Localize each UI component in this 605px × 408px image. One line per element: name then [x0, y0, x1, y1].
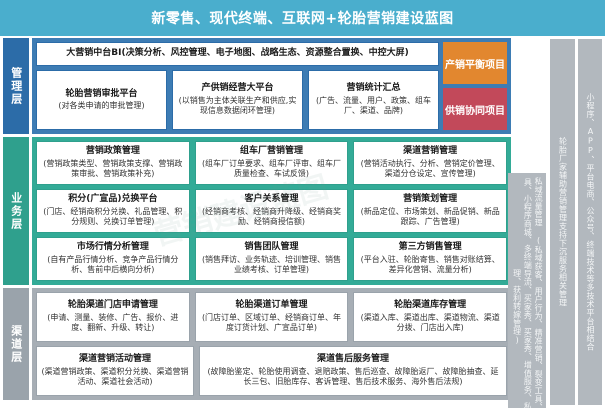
- card-title: 渠道营销活动管理: [79, 354, 151, 365]
- card-marketing-statistics-summary[interactable]: 营销统计汇总 (广告、流量、用户、政策、组车厂、渠道、品牌): [308, 70, 439, 130]
- card-subtitle: (渠道入库、渠道出库、渠道物流、渠道分拨、门店出入库): [358, 313, 502, 334]
- card-title: 渠道售后服务管理: [317, 354, 389, 365]
- rail-label: 私域流量管理 (私域获客、用户行为、精准营销、裂变工具、交易工具、小程序商城、多…: [511, 177, 543, 408]
- management-project-chips: 产销平衡项目 供销协同项目: [443, 42, 507, 130]
- layer-body-channel: 轮胎渠道门店申请管理 (申请、测量、装修、广告、报价、进度、翻新、升级、转让) …: [32, 288, 511, 400]
- card-title: 轮胎渠道库存管理: [394, 300, 466, 311]
- card-row: 积分(广宣品)兑换平台 (门店、经销商积分兑换、礼品管理、积分规则、兑换订单管理…: [36, 189, 507, 233]
- card-channel-marketing-activity-management[interactable]: 渠道营销活动管理 (渠道营销政策、渠道积分兑换、渠道营销活动、渠道社会活动): [36, 346, 194, 396]
- card-subtitle: (对各类申请的审批管理): [58, 101, 144, 111]
- card-channel-marketing-management[interactable]: 渠道营销管理 (营销活动执行、分析、营销定价管理、渠道分仓设定、宣传管理): [353, 141, 507, 185]
- card-row: 营销政策管理 (营销政策类型、营销政策支撑、营销政策审批、营销政策补充) 组车厂…: [36, 141, 507, 185]
- card-title: 积分(广宣品)兑换平台: [68, 194, 157, 205]
- card-marketing-bi[interactable]: 大营销中台BI(决策分析、风控管理、电子地图、战略生态、资源整合置换、中控大屏): [36, 42, 439, 66]
- card-subtitle: (渠道营销政策、渠道积分兑换、渠道营销活动、渠道社会活动): [41, 367, 189, 388]
- chip-supply-sales-collaboration-project[interactable]: 供销协同项目: [443, 88, 507, 130]
- card-title: 渠道营销管理: [403, 146, 457, 157]
- rail-label: 小程序、APP、平台电商、公众号、终端技术等多技术平台相结合: [585, 93, 595, 351]
- card-title: 销售团队管理: [245, 242, 299, 253]
- card-subtitle: (营销活动执行、分析、营销定价管理、渠道分仓设定、宣传管理): [358, 159, 502, 180]
- card-market-analysis-management[interactable]: 市场行情分析管理 (自有产品行情分析、竞争产品行情分析、售前中后横向分析): [36, 237, 190, 281]
- right-vertical-rails: 轮胎厂家辅助营销管理支持下沉服务相关管理 小程序、APP、平台电商、公众号、终端…: [550, 39, 602, 405]
- card-subtitle: (平台入驻、轮胎寄售、销售对账结算、差异化营销、流量分析): [358, 255, 502, 276]
- card-assembly-plant-marketing-management[interactable]: 组车厂营销管理 (组车厂订单要求、组车厂评审、组车厂质量检查、车试反馈): [195, 141, 349, 185]
- layer-label-business: 业务层: [3, 137, 29, 285]
- card-title: 组车厂营销管理: [240, 146, 303, 157]
- card-subtitle: (新品定位、市场策划、新品促销、新品跟踪、广告管理): [358, 207, 502, 228]
- card-subtitle: (经销商考核、经销商升降级、经销商奖励、经销商授信额): [200, 207, 344, 228]
- card-title: 市场行情分析管理: [77, 242, 149, 253]
- card-title: 大营销中台BI(决策分析、风控管理、电子地图、战略生态、资源整合置换、中控大屏): [66, 48, 408, 59]
- card-subtitle: (以销售为主体关联生产和供应,实现信息数据闭环管理): [177, 96, 298, 117]
- card-channel-after-sales-service-management[interactable]: 渠道售后服务管理 (故障胎鉴定、轮胎使用调查、退赔政策、售后巡查、故障胎返厂、故…: [199, 346, 507, 396]
- card-title: 产供销经营大平台: [201, 83, 273, 94]
- layer-cards-business: 营销政策管理 (营销政策类型、营销政策支撑、营销政策审批、营销政策补充) 组车厂…: [36, 141, 507, 281]
- card-sales-team-management[interactable]: 销售团队管理 (销售拜访、业务轨迹、培训管理、销售业绩考核、订单管理): [195, 237, 349, 281]
- card-row: 轮胎营销审批平台 (对各类申请的审批管理) 产供销经营大平台 (以销售为主体关联…: [36, 70, 439, 130]
- chip-production-sales-balance-project[interactable]: 产销平衡项目: [443, 42, 507, 84]
- card-customer-relationship-management[interactable]: 客户关系管理 (经销商考核、经销商升降级、经销商奖励、经销商授信额): [195, 189, 349, 233]
- card-subtitle: (组车厂订单要求、组车厂评审、组车厂质量检查、车试反馈): [200, 159, 344, 180]
- card-row: 大营销中台BI(决策分析、风控管理、电子地图、战略生态、资源整合置换、中控大屏): [36, 42, 439, 66]
- rail-private-traffic-management[interactable]: 私域流量管理 (私域获客、用户行为、精准营销、裂变工具、交易工具、小程序商城、多…: [508, 173, 546, 408]
- card-subtitle: (营销政策类型、营销政策支撑、营销政策审批、营销政策补充): [41, 159, 185, 180]
- layer-label-channel: 渠道层: [3, 288, 29, 400]
- card-subtitle: (销售拜访、业务轨迹、培训管理、销售业绩考核、订单管理): [200, 255, 344, 276]
- card-channel-order-management[interactable]: 轮胎渠道订单管理 (门店订单、区域订单、经销商订单、年度订货计划、广宣品订单): [195, 292, 349, 342]
- rail-label: 轮胎厂家辅助营销管理支持下沉服务相关管理: [557, 137, 567, 307]
- layer-label-management: 管理层: [3, 38, 29, 134]
- card-channel-inventory-management[interactable]: 轮胎渠道库存管理 (渠道入库、渠道出库、渠道物流、渠道分拨、门店出入库): [353, 292, 507, 342]
- card-row: 轮胎渠道门店申请管理 (申请、测量、装修、广告、报价、进度、翻新、升级、转让) …: [36, 292, 507, 342]
- layer-channel: 渠道层 轮胎渠道门店申请管理 (申请、测量、装修、广告、报价、进度、翻新、升级、…: [3, 288, 511, 400]
- page-title: 新零售、现代终端、互联网+轮胎营销建设蓝图: [151, 8, 453, 28]
- card-title: 营销政策管理: [86, 146, 140, 157]
- page-title-bar: 新零售、现代终端、互联网+轮胎营销建设蓝图: [0, 0, 605, 36]
- layer-cards-management: 大营销中台BI(决策分析、风控管理、电子地图、战略生态、资源整合置换、中控大屏)…: [36, 42, 439, 130]
- card-third-party-sales-management[interactable]: 第三方销售管理 (平台入驻、轮胎寄售、销售对账结算、差异化营销、流量分析): [353, 237, 507, 281]
- card-subtitle: (门店、经销商积分兑换、礼品管理、积分规则、兑换订单管理): [41, 207, 185, 228]
- layer-cards-channel: 轮胎渠道门店申请管理 (申请、测量、装修、广告、报价、进度、翻新、升级、转让) …: [36, 292, 507, 396]
- card-title: 第三方销售管理: [399, 242, 462, 253]
- card-production-supply-sales-platform[interactable]: 产供销经营大平台 (以销售为主体关联生产和供应,实现信息数据闭环管理): [172, 70, 303, 130]
- card-row: 渠道营销活动管理 (渠道营销政策、渠道积分兑换、渠道营销活动、渠道社会活动) 渠…: [36, 346, 507, 396]
- card-title: 营销策划管理: [403, 194, 457, 205]
- card-title: 营销统计汇总: [346, 83, 400, 94]
- blueprint-board: 营销建设蓝图 管理层 大营销中台BI(决策分析、风控管理、电子地图、战略生态、资…: [0, 36, 605, 408]
- card-subtitle: (申请、测量、装修、广告、报价、进度、翻新、升级、转让): [41, 313, 185, 334]
- card-title: 轮胎渠道订单管理: [236, 300, 308, 311]
- card-subtitle: (自有产品行情分析、竞争产品行情分析、售前中后横向分析): [41, 255, 185, 276]
- card-row: 市场行情分析管理 (自有产品行情分析、竞争产品行情分析、售前中后横向分析) 销售…: [36, 237, 507, 281]
- card-title: 轮胎营销审批平台: [65, 89, 137, 100]
- card-title: 轮胎渠道门店申请管理: [68, 300, 158, 311]
- layer-body-management: 大营销中台BI(决策分析、风控管理、电子地图、战略生态、资源整合置换、中控大屏)…: [32, 38, 511, 134]
- card-subtitle: (广告、流量、用户、政策、组车厂、渠道、品牌): [313, 96, 434, 117]
- card-marketing-planning-management[interactable]: 营销策划管理 (新品定位、市场策划、新品促销、新品跟踪、广告管理): [353, 189, 507, 233]
- card-marketing-policy-management[interactable]: 营销政策管理 (营销政策类型、营销政策支撑、营销政策审批、营销政策补充): [36, 141, 190, 185]
- rail-multi-tech-platforms[interactable]: 小程序、APP、平台电商、公众号、终端技术等多技术平台相结合: [578, 39, 603, 405]
- layer-management: 管理层 大营销中台BI(决策分析、风控管理、电子地图、战略生态、资源整合置换、中…: [3, 38, 511, 134]
- layer-body-business: 营销政策管理 (营销政策类型、营销政策支撑、营销政策审批、营销政策补充) 组车厂…: [32, 137, 511, 285]
- layer-business: 业务层 营销政策管理 (营销政策类型、营销政策支撑、营销政策审批、营销政策补充)…: [3, 137, 511, 285]
- layers-column: 管理层 大营销中台BI(决策分析、风控管理、电子地图、战略生态、资源整合置换、中…: [3, 38, 511, 400]
- rail-tire-factory-support[interactable]: 轮胎厂家辅助营销管理支持下沉服务相关管理: [550, 39, 575, 405]
- card-subtitle: (故障胎鉴定、轮胎使用调查、退赔政策、售后巡查、故障胎返厂、故障胎抽查、延长三包…: [204, 367, 502, 388]
- card-points-redemption-platform[interactable]: 积分(广宣品)兑换平台 (门店、经销商积分兑换、礼品管理、积分规则、兑换订单管理…: [36, 189, 190, 233]
- card-channel-store-application-management[interactable]: 轮胎渠道门店申请管理 (申请、测量、装修、广告、报价、进度、翻新、升级、转让): [36, 292, 190, 342]
- card-title: 客户关系管理: [245, 194, 299, 205]
- card-subtitle: (门店订单、区域订单、经销商订单、年度订货计划、广宣品订单): [200, 313, 344, 334]
- card-tire-marketing-approval-platform[interactable]: 轮胎营销审批平台 (对各类申请的审批管理): [36, 70, 167, 130]
